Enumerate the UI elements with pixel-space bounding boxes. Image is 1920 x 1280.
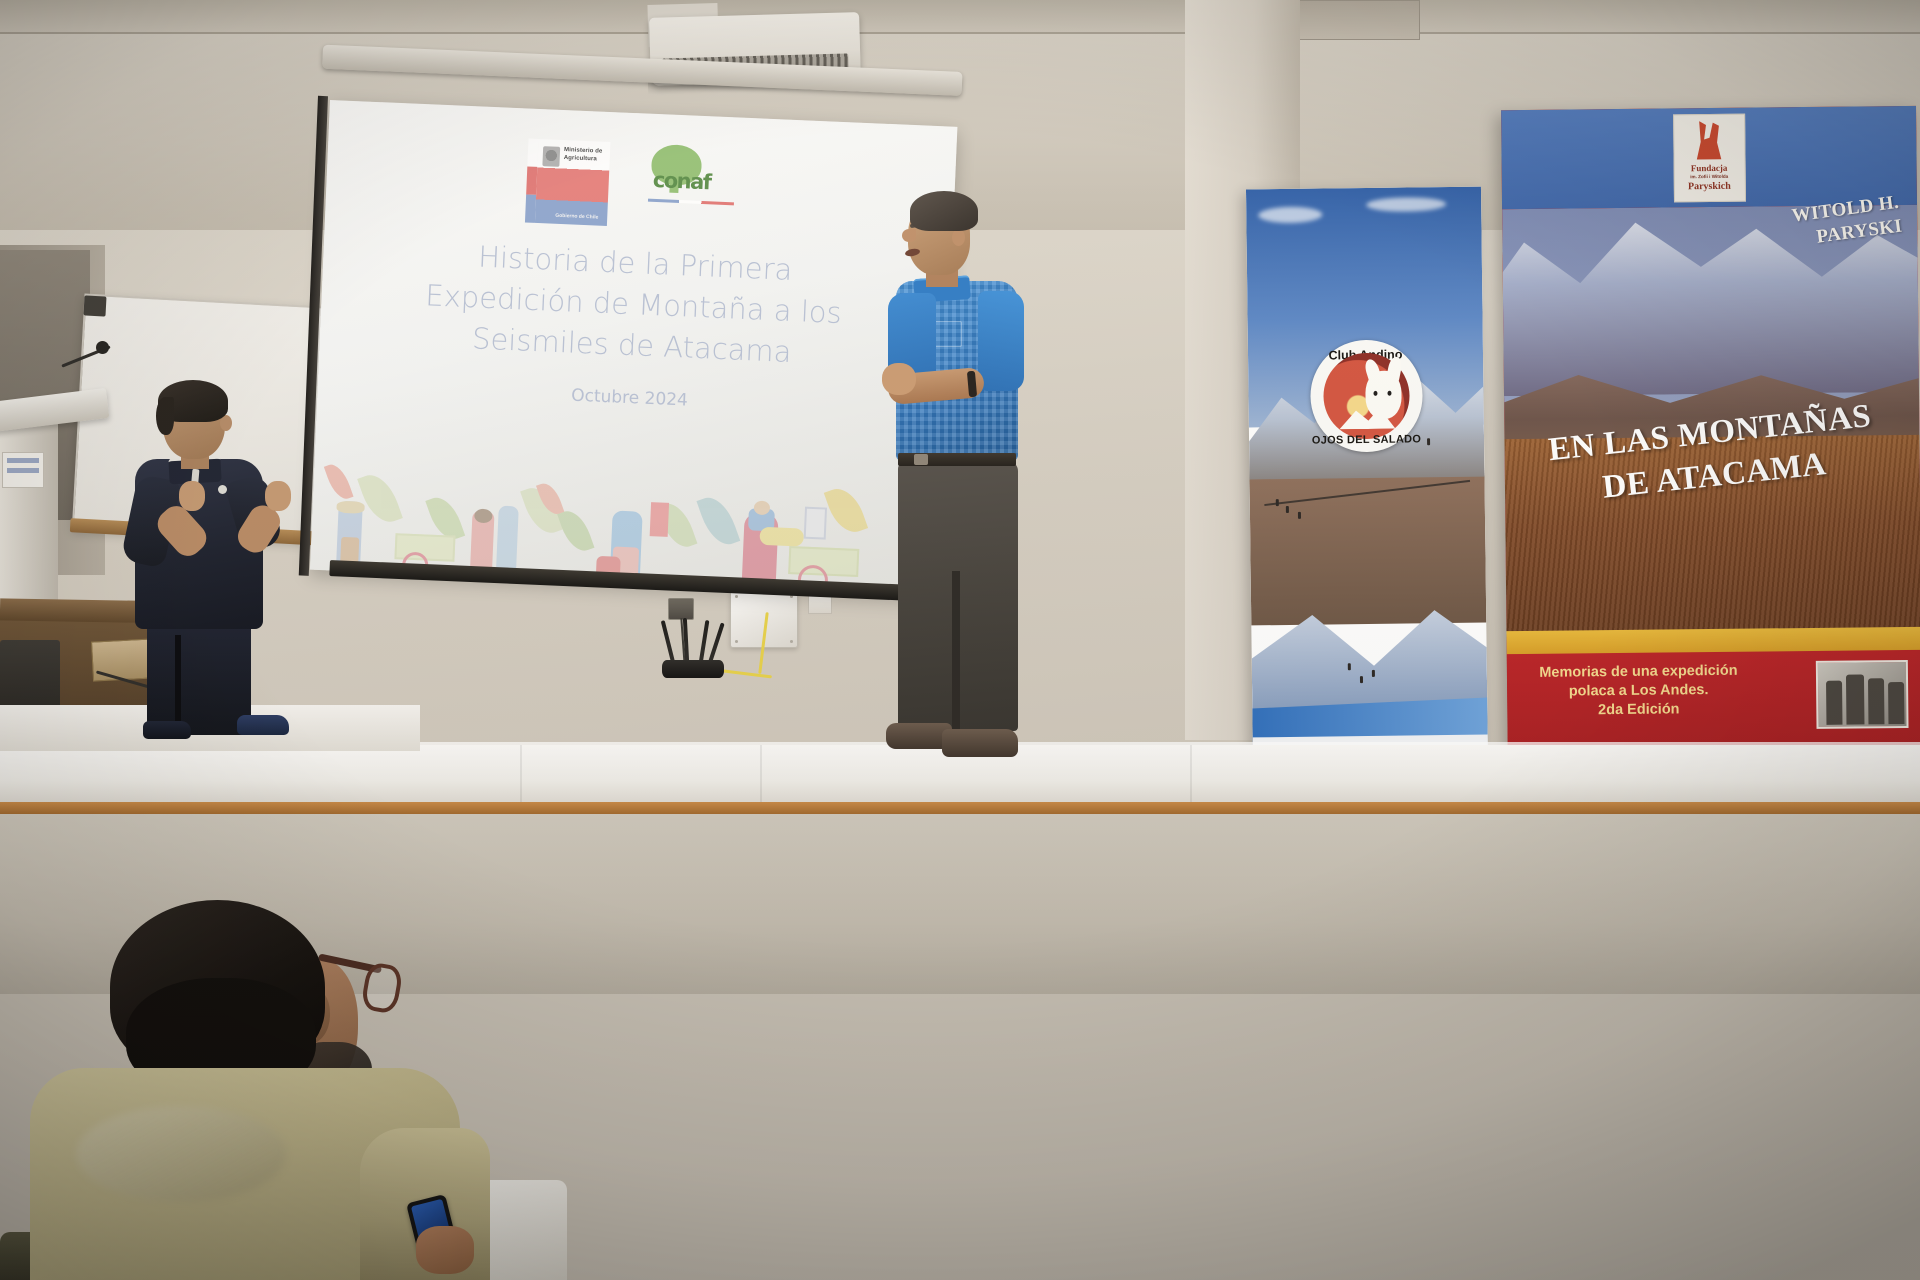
speaker-left-shoe-right: [237, 715, 289, 735]
club-andino-logo: Club Andino OJOS DEL SALADO: [1309, 339, 1422, 452]
audience-jacket-fold: [76, 1106, 286, 1202]
presentation-slide: Ministerio deAgricultura Gobierno de Chi…: [310, 100, 958, 596]
gobierno-label: Gobierno de Chile: [555, 213, 598, 221]
speaker-left-hand-right: [265, 481, 291, 511]
banner1-ground: [1250, 477, 1487, 625]
wall-outlet[interactable]: [668, 598, 694, 620]
banner2-historic-photo: [1816, 660, 1909, 729]
wifi-router: [662, 660, 724, 678]
speaker-left: [125, 385, 355, 735]
speaker-right-belt-buckle: [914, 454, 928, 465]
ceiling-beam: [0, 0, 1920, 34]
speaker-left-badge: [218, 485, 227, 494]
slide-title: Historia de la Primera Expedición de Mon…: [381, 233, 886, 378]
statue-icon: [1692, 121, 1726, 161]
speaker-right-nose: [902, 229, 916, 242]
fundacja-line3: Paryskich: [1674, 181, 1744, 193]
fundacja-line2: im. Zofii i Witolda: [1674, 174, 1744, 180]
ceiling-tile: [1290, 0, 1420, 40]
whiteboard-clip: [83, 295, 106, 316]
speaker-left-legs: [147, 617, 251, 735]
fundacja-line1: Fundacja: [1674, 163, 1744, 174]
lectern-sign: [2, 452, 44, 488]
speaker-right-hands: [882, 363, 916, 395]
ministerio-label: Ministerio deAgricultura: [564, 147, 603, 164]
fundacja-paryskich-logo: Fundacja im. Zofii i Witolda Paryskich: [1673, 114, 1746, 203]
projector-screen: Ministerio deAgricultura Gobierno de Chi…: [310, 100, 958, 596]
speaker-right-hair: [910, 191, 978, 231]
microphone-icon: [96, 341, 109, 354]
conaf-rule: [648, 199, 734, 206]
club-andino-emblem: [1322, 352, 1409, 439]
speaker-left-leg-split: [175, 635, 181, 735]
conaf-logo: conaf: [629, 143, 740, 218]
slide-date: Octubre 2024: [379, 377, 879, 418]
speaker-left-shoe-left: [143, 721, 191, 739]
audience-hand: [416, 1226, 474, 1274]
audience-member: [30, 900, 590, 1280]
vicuna-head-icon: [1365, 371, 1402, 419]
slide-logos: Ministerio deAgricultura Gobierno de Chi…: [525, 139, 740, 232]
speaker-right-sleeve-right: [978, 291, 1024, 391]
speaker-left-sideburn: [156, 397, 174, 435]
speaker-left-hand-left: [179, 481, 205, 511]
speaker-right-ear: [952, 229, 965, 246]
ojos-del-salado-name: OJOS DEL SALADO: [1310, 433, 1422, 446]
conaf-wordmark: conaf: [652, 168, 711, 194]
photo-scene: Ministerio deAgricultura Gobierno de Chi…: [0, 0, 1920, 1280]
speaker-right-shoe-right: [942, 729, 1018, 757]
banner2-subtitle: Memorias de una expedición polaca a Los …: [1521, 662, 1757, 721]
speaker-right-leg-split: [952, 571, 960, 733]
speaker-right: [880, 195, 1080, 775]
chile-crest-icon: [542, 146, 560, 167]
ministerio-agricultura-logo: Ministerio deAgricultura Gobierno de Chi…: [525, 139, 611, 226]
